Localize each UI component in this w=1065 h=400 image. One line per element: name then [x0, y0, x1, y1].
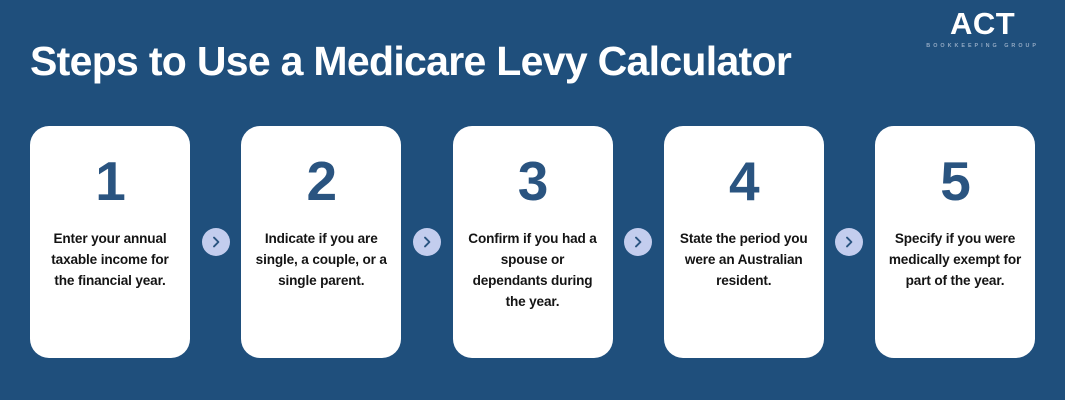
infographic-canvas: ACT BOOKKEEPING GROUP Steps to Use a Med…	[0, 0, 1065, 400]
step-number: 1	[95, 152, 125, 210]
step-number: 4	[729, 152, 759, 210]
step-description: Specify if you were medically exempt for…	[886, 228, 1024, 291]
step-card: 3 Confirm if you had a spouse or dependa…	[453, 126, 613, 358]
step-description: Confirm if you had a spouse or dependant…	[464, 228, 602, 312]
step-description: Indicate if you are single, a couple, or…	[252, 228, 390, 291]
chevron-right-icon	[202, 228, 230, 256]
chevron-right-icon	[413, 228, 441, 256]
step-card: 4 State the period you were an Australia…	[664, 126, 824, 358]
steps-row: 1 Enter your annual taxable income for t…	[30, 126, 1035, 358]
step-card: 2 Indicate if you are single, a couple, …	[241, 126, 401, 358]
brand-logo: ACT BOOKKEEPING GROUP	[926, 8, 1039, 49]
step-card: 5 Specify if you were medically exempt f…	[875, 126, 1035, 358]
logo-tagline: BOOKKEEPING GROUP	[926, 44, 1039, 49]
chevron-right-icon	[624, 228, 652, 256]
step-description: Enter your annual taxable income for the…	[41, 228, 179, 291]
step-number: 5	[940, 152, 970, 210]
step-card: 1 Enter your annual taxable income for t…	[30, 126, 190, 358]
step-number: 3	[518, 152, 548, 210]
logo-wordmark: ACT	[926, 8, 1039, 39]
step-number: 2	[306, 152, 336, 210]
page-title: Steps to Use a Medicare Levy Calculator	[30, 36, 791, 86]
chevron-right-icon	[835, 228, 863, 256]
step-description: State the period you were an Australian …	[675, 228, 813, 291]
